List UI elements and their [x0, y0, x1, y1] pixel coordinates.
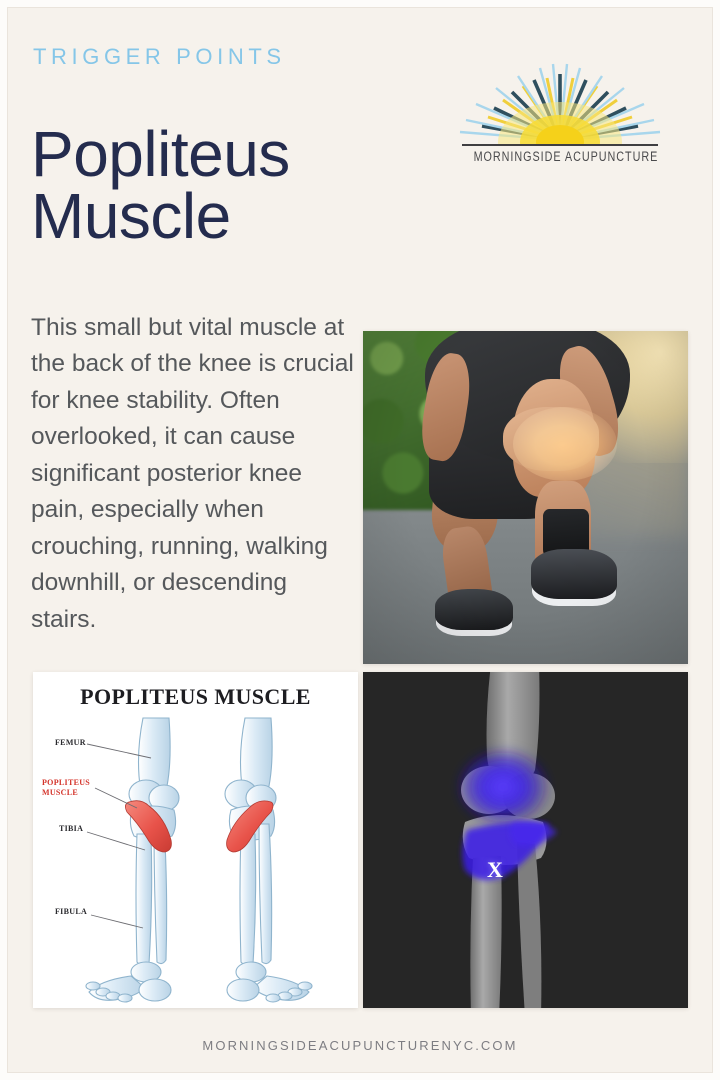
anatomy-canvas: POPLITEUS MUSCLE — [33, 672, 358, 1008]
logo-wordmark: MORNINGSIDE ACUPUNCTURE — [474, 149, 647, 164]
photo-scene — [363, 331, 688, 664]
knee-referral-illustration — [363, 672, 688, 1008]
anatomy-label-fibula: FIBULA — [55, 907, 87, 917]
brand-logo: MORNINGSIDE ACUPUNCTURE — [452, 56, 668, 172]
leg-bones-illustration — [33, 710, 358, 1006]
page-title: Popliteus Muscle — [31, 123, 290, 247]
fibula-shape — [517, 842, 541, 1008]
anatomy-label-popliteus-muscle: POPLITEUS MUSCLE — [42, 778, 90, 798]
anatomy-title: POPLITEUS MUSCLE — [33, 684, 358, 710]
sunburst-icon — [452, 56, 668, 144]
body-paragraph: This small but vital muscle at the back … — [31, 310, 356, 639]
eyebrow-label: TRIGGER POINTS — [33, 44, 286, 70]
popliteus-anatomy-diagram: POPLITEUS MUSCLE — [33, 672, 358, 1008]
footer-website: MORNINGSIDEACUPUNCTURENYC.COM — [0, 1038, 720, 1053]
anatomy-label-tibia: TIBIA — [59, 824, 83, 834]
anatomy-label-femur: FEMUR — [55, 738, 86, 748]
logo-divider — [462, 144, 658, 146]
trigger-point-x-marker: X — [487, 857, 503, 883]
infographic-poster: TRIGGER POINTS Popliteus Muscle — [0, 0, 720, 1080]
runner-knee-pain-photo — [363, 331, 688, 664]
trigger-canvas: X — [363, 672, 688, 1008]
photo-vignette — [363, 331, 688, 664]
trigger-point-referral-diagram: X — [363, 672, 688, 1008]
